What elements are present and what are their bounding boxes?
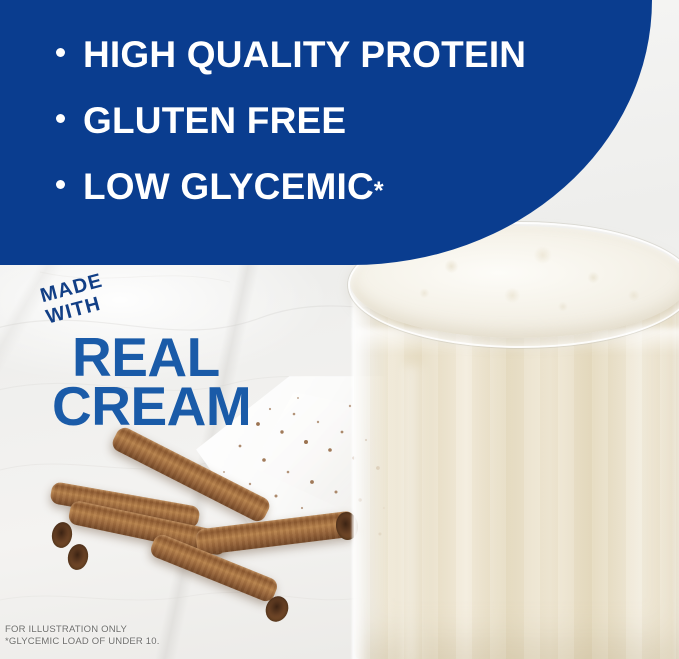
- disclaimer-line-2: *GLYCEMIC LOAD OF UNDER 10.: [5, 636, 160, 648]
- product-marketing-image: HIGH QUALITY PROTEIN GLUTEN FREE LOW GLY…: [0, 0, 679, 659]
- claim-item: GLUTEN FREE: [56, 102, 526, 139]
- bullet-dot-icon: [56, 114, 65, 123]
- cinnamon-stick-end: [66, 542, 91, 572]
- claim-item: LOW GLYCEMIC*: [56, 168, 526, 205]
- claim-item: HIGH QUALITY PROTEIN: [56, 36, 526, 73]
- cream-label: CREAM: [52, 382, 251, 431]
- disclaimer: FOR ILLUSTRATION ONLY *GLYCEMIC LOAD OF …: [5, 624, 160, 648]
- claim-label: LOW GLYCEMIC: [83, 168, 374, 205]
- glass-left-edge-highlight: [352, 272, 368, 659]
- bullet-dot-icon: [56, 48, 65, 57]
- glass-highlight: [404, 366, 430, 659]
- claims-list: HIGH QUALITY PROTEIN GLUTEN FREE LOW GLY…: [56, 36, 526, 234]
- real-cream-headline: REAL CREAM: [52, 333, 251, 431]
- cinnamon-stick: [195, 510, 357, 555]
- claim-label: HIGH QUALITY PROTEIN: [83, 36, 526, 73]
- glass-of-cream-shake: [344, 216, 679, 659]
- disclaimer-line-1: FOR ILLUSTRATION ONLY: [5, 624, 160, 636]
- claim-label: GLUTEN FREE: [83, 102, 346, 139]
- cinnamon-sticks-group: [50, 450, 390, 650]
- bullet-dot-icon: [56, 180, 65, 189]
- cinnamon-stick-end: [50, 520, 74, 549]
